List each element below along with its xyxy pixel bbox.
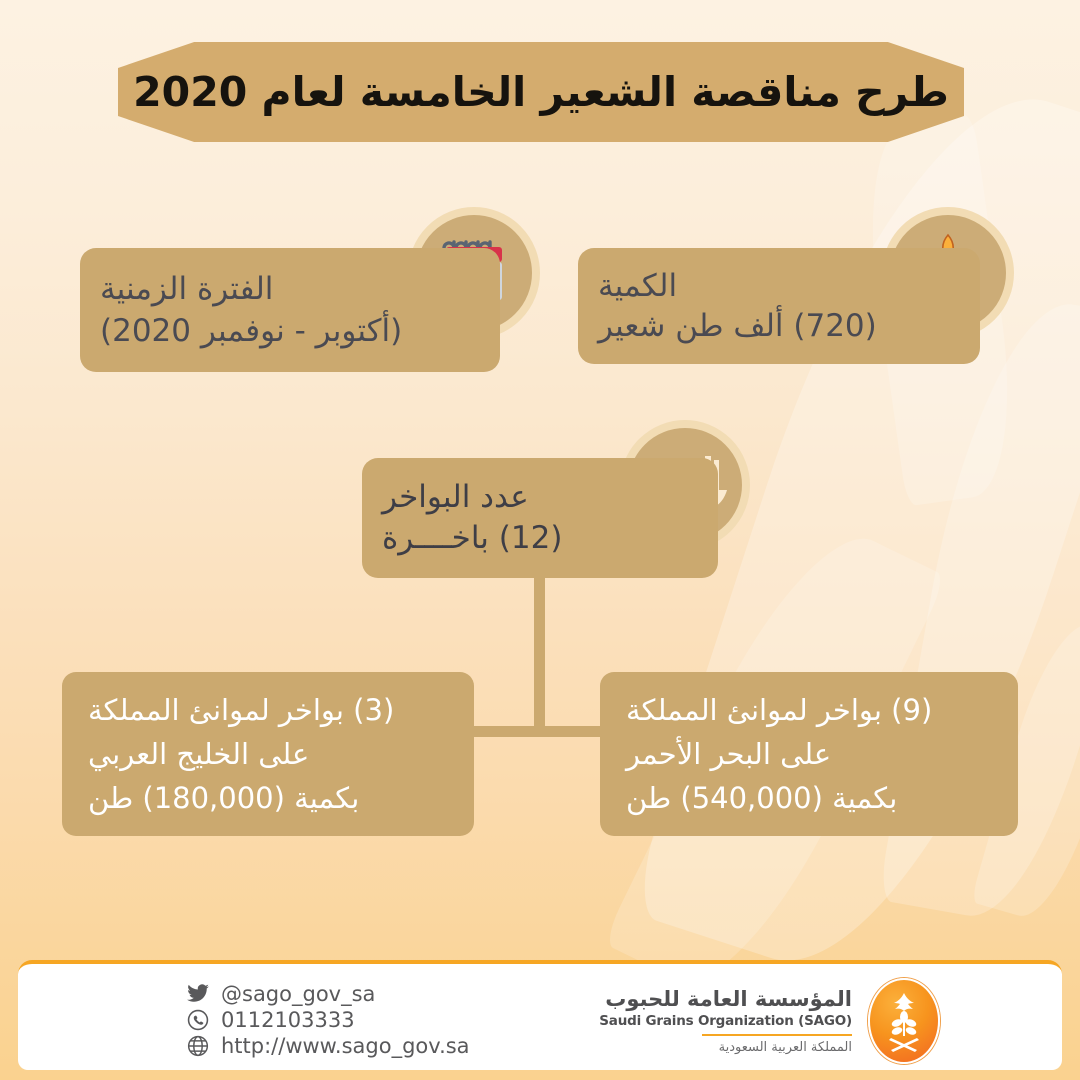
red-sea-ports-card: (9) بواخر لموانئ المملكة على البحر الأحم… (600, 672, 1018, 836)
logo-divider (702, 1034, 852, 1036)
contact-twitter-text: @sago_gov_sa (221, 982, 375, 1006)
quantity-value: (720) ألف طن شعير (598, 306, 877, 346)
period-value: (أكتوبر - نوفمبر 2020) (100, 310, 402, 352)
palm-and-wheat-emblem (881, 990, 927, 1052)
ships-value: (12) باخــــرة (382, 518, 562, 559)
sago-logo: المؤسسة العامة للحبوب Saudi Grains Organ… (599, 978, 940, 1064)
page-title: طرح مناقصة الشعير الخامسة لعام 2020 (133, 68, 949, 116)
sago-logo-text: المؤسسة العامة للحبوب Saudi Grains Organ… (599, 986, 852, 1057)
gulf-line-2: على الخليج العربي (88, 732, 309, 776)
sago-country-arabic: المملكة العربية السعودية (599, 1039, 852, 1057)
contact-phone-text: 0112103333 (221, 1008, 355, 1032)
period-card: الفترة الزمنية (أكتوبر - نوفمبر 2020) (80, 248, 500, 372)
contact-list: @sago_gov_sa 0112103333 h (186, 982, 470, 1058)
sago-emblem (868, 978, 940, 1064)
title-banner: طرح مناقصة الشعير الخامسة لعام 2020 (118, 42, 964, 142)
quantity-label: الكمية (598, 266, 677, 306)
quantity-card: الكمية (720) ألف طن شعير (578, 248, 980, 364)
arabian-gulf-ports-card: (3) بواخر لموانئ المملكة على الخليج العر… (62, 672, 474, 836)
gulf-line-1: (3) بواخر لموانئ المملكة (88, 688, 394, 732)
period-label: الفترة الزمنية (100, 268, 273, 310)
ships-label: عدد البواخر (382, 477, 529, 518)
gulf-line-3: بكمية (180,000) طن (88, 776, 359, 820)
red-sea-line-2: على البحر الأحمر (626, 732, 831, 776)
footer-panel: @sago_gov_sa 0112103333 h (18, 960, 1062, 1070)
whatsapp-icon (186, 1008, 210, 1032)
twitter-icon (186, 982, 210, 1006)
contact-phone[interactable]: 0112103333 (186, 1008, 470, 1032)
contact-website-text: http://www.sago_gov.sa (221, 1034, 470, 1058)
sago-name-arabic: المؤسسة العامة للحبوب (599, 986, 852, 1012)
sago-name-english: Saudi Grains Organization (SAGO) (599, 1012, 852, 1031)
contact-twitter[interactable]: @sago_gov_sa (186, 982, 470, 1006)
globe-icon (186, 1034, 210, 1058)
contact-website[interactable]: http://www.sago_gov.sa (186, 1034, 470, 1058)
red-sea-line-3: بكمية (540,000) طن (626, 776, 897, 820)
red-sea-line-1: (9) بواخر لموانئ المملكة (626, 688, 932, 732)
connector-vertical (534, 575, 545, 735)
ships-card: عدد البواخر (12) باخــــرة (362, 458, 718, 578)
